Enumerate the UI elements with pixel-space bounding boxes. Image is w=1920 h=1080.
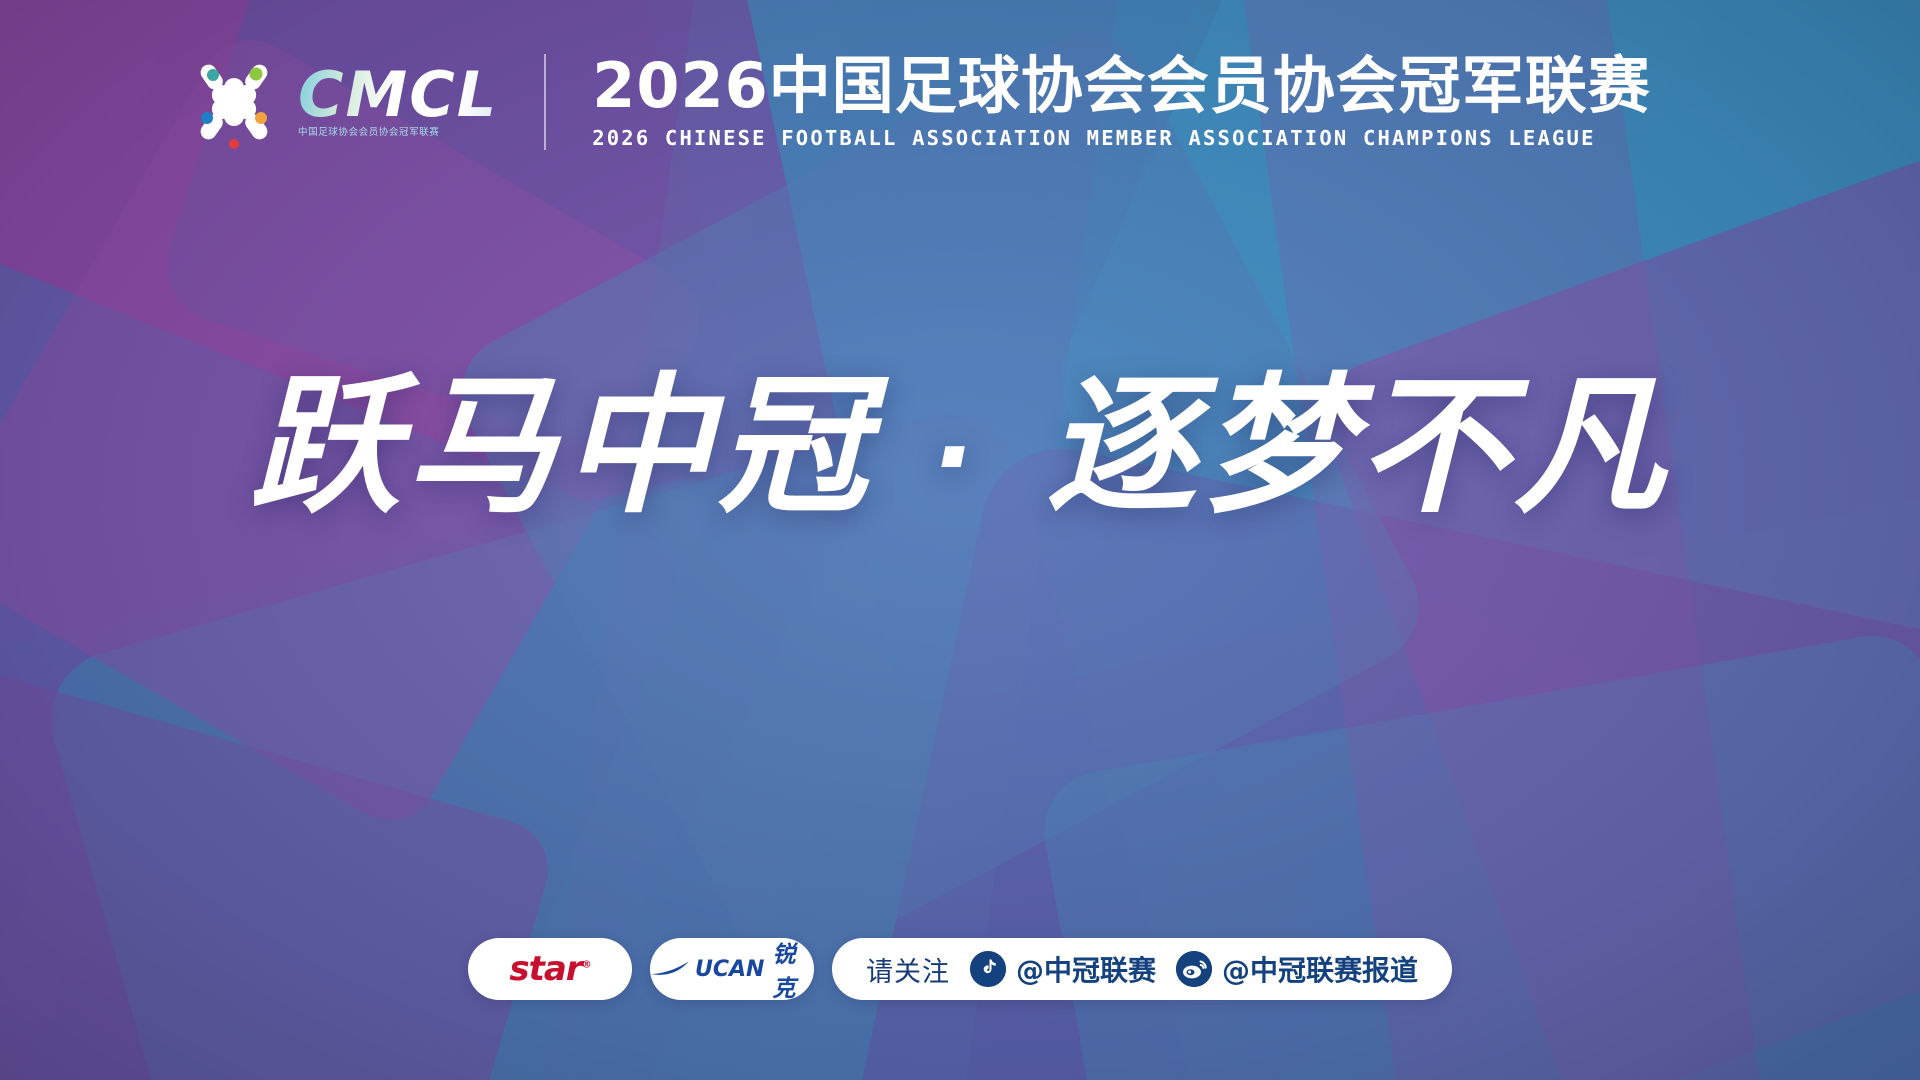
cmcl-snowflake-emblem-icon: [180, 48, 288, 156]
vertical-divider-icon: [544, 54, 546, 150]
hero-slogan-separator: ·: [932, 393, 988, 521]
event-title-cn: 2026中国足球协会会员协会冠军联赛: [592, 54, 1651, 117]
ucan-swoosh-icon: [650, 960, 690, 978]
weibo-handle: @中冠联赛报道: [1222, 949, 1418, 989]
ucan-label: UCAN: [695, 957, 764, 982]
hero-slogan-part1: 跃马中冠: [250, 360, 874, 534]
cmcl-wordmark-block: CMCL 中国足球协会会员协会冠军联赛: [298, 66, 498, 139]
douyin-icon: [970, 951, 1006, 987]
background-vignette: [0, 0, 1920, 1080]
cmcl-logo: CMCL 中国足球协会会员协会冠军联赛: [180, 48, 498, 156]
header: CMCL 中国足球协会会员协会冠军联赛 2026中国足球协会会员协会冠军联赛 2…: [180, 48, 1651, 156]
social-account-weibo[interactable]: @中冠联赛报道: [1176, 949, 1418, 989]
ucan-logo: UCAN 锐克: [650, 935, 814, 1003]
ucan-label-cn: 锐克: [772, 935, 814, 1003]
cmcl-wordmark-sub-cn: 中国足球协会会员协会冠军联赛: [298, 127, 439, 139]
star-label: star: [509, 949, 581, 989]
douyin-handle: @中冠联赛: [1016, 949, 1156, 989]
sponsor-star[interactable]: star®: [468, 938, 632, 1000]
cmcl-wordmark: CMCL: [298, 66, 498, 125]
hero-slogan: 跃马中冠 · 逐梦不凡: [0, 372, 1920, 522]
social-account-douyin[interactable]: @中冠联赛: [970, 949, 1156, 989]
weibo-icon: [1176, 951, 1212, 987]
star-brand-logo-icon: star®: [509, 949, 590, 989]
bottom-bar: star® UCAN 锐克 请关注: [0, 938, 1920, 1000]
social-bar: 请关注 @中冠联赛: [832, 938, 1452, 1000]
sponsor-ucan[interactable]: UCAN 锐克: [650, 938, 814, 1000]
event-title-block: 2026中国足球协会会员协会冠军联赛 2026 CHINESE FOOTBALL…: [592, 54, 1651, 150]
event-title-en: 2026 CHINESE FOOTBALL ASSOCIATION MEMBER…: [592, 126, 1651, 150]
hero-slogan-part2: 逐梦不凡: [1046, 360, 1670, 534]
star-registered-mark: ®: [582, 960, 591, 971]
poster-canvas: CMCL 中国足球协会会员协会冠军联赛 2026中国足球协会会员协会冠军联赛 2…: [0, 0, 1920, 1080]
follow-label: 请关注: [866, 950, 950, 989]
